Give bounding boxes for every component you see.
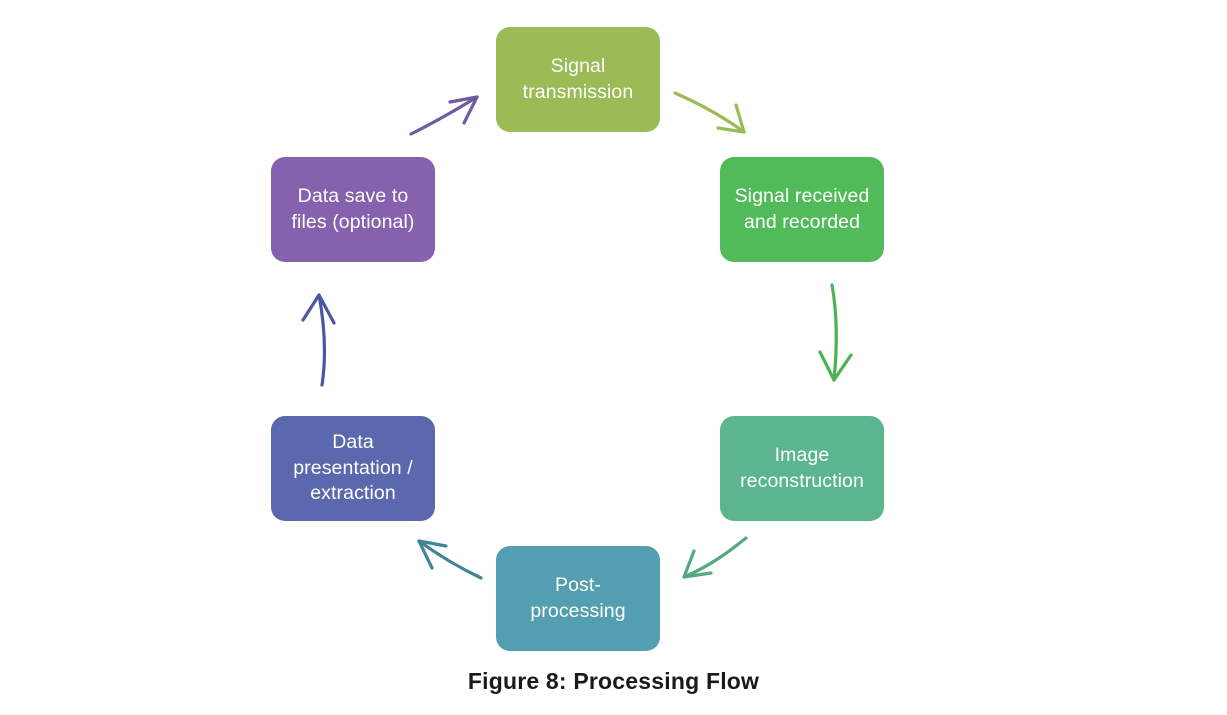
arrow-reconstruction-to-postprocessing [684,538,746,577]
figure-caption: Figure 8: Processing Flow [0,668,1227,695]
node-signal-transmission[interactable]: Signal transmission [496,27,660,132]
arrow-postprocessing-to-presentation [419,541,481,578]
arrow-transmission-to-received [675,93,744,132]
node-image-reconstruction[interactable]: Image reconstruction [720,416,884,521]
arrow-save-to-transmission [411,97,477,134]
node-data-save[interactable]: Data save to files (optional) [271,157,435,262]
node-post-processing[interactable]: Post- processing [496,546,660,651]
node-data-presentation[interactable]: Data presentation / extraction [271,416,435,521]
processing-flow-diagram: Signal transmission Signal received and … [0,0,1227,715]
arrow-presentation-to-save [303,295,334,385]
node-signal-received[interactable]: Signal received and recorded [720,157,884,262]
arrow-received-to-reconstruction [820,285,851,380]
